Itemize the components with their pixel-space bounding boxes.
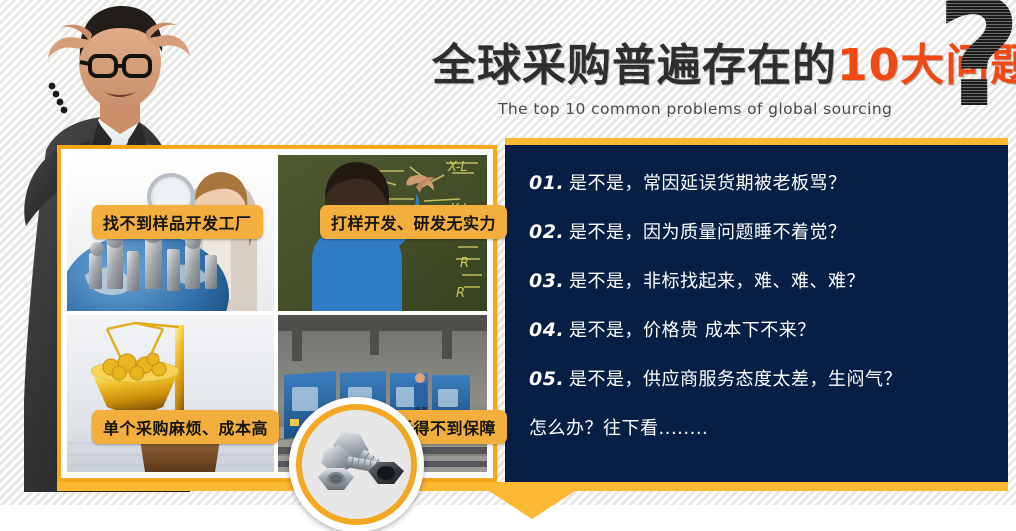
down-arrow-icon [489, 491, 575, 519]
photo-cell-bottom-left [67, 315, 274, 472]
navy-panel-top-bar [505, 138, 1008, 145]
center-circle-ring [296, 404, 417, 525]
problem-number: 03. [529, 270, 569, 292]
caption-top-left: 找不到样品开发工厂 [92, 205, 263, 239]
svg-text:X-L: X-L [447, 160, 468, 175]
bottom-orange-bar [57, 482, 1008, 491]
svg-text:R: R [456, 286, 465, 301]
problem-number: 02. [529, 221, 569, 243]
problems-list: 01. 是不是，常因延误货期被老板骂？ 02. 是不是，因为质量问题睡不着觉？ … [529, 169, 994, 440]
problem-text: 是不是，非标找起来，难、难、难？ [569, 267, 865, 293]
problem-item: 02. 是不是，因为质量问题睡不着觉？ [529, 218, 994, 244]
headline-block: 全球采购普遍存在的10大问题 The top 10 common problem… [432, 44, 992, 136]
question-mark-glyph: ? [936, 0, 1016, 128]
problem-number: 04. [529, 319, 569, 341]
center-circle-badge [289, 397, 424, 531]
question-mark-icon: ? ? [942, 10, 1016, 122]
caption-top-right: 打样开发、研发无实力 [320, 205, 507, 239]
caption-bottom-left: 单个采购麻烦、成本高 [92, 410, 279, 444]
problem-text: 是不是，常因延误货期被老板骂？ [569, 169, 847, 195]
problem-text: 是不是，供应商服务态度太差，生闷气？ [569, 365, 902, 391]
problem-item: 04. 是不是，价格贵 成本下不来？ [529, 316, 994, 342]
problem-text: 是不是，价格贵 成本下不来？ [569, 316, 816, 342]
problem-text: 是不是，因为质量问题睡不着觉？ [569, 218, 847, 244]
problem-item: 03. 是不是，非标找起来，难、难、难？ [529, 267, 994, 293]
problem-number: 01. [529, 172, 569, 194]
svg-text:R: R [460, 256, 469, 271]
problem-item: 05. 是不是，供应商服务态度太差，生闷气？ [529, 365, 994, 391]
problems-footer: 怎么办？往下看........ [529, 414, 994, 440]
page-subtitle: The top 10 common problems of global sou… [498, 100, 892, 118]
promo-banner: 全球采购普遍存在的10大问题 The top 10 common problem… [0, 0, 1016, 531]
problem-number: 05. [529, 368, 569, 390]
page-title: 全球采购普遍存在的10大问题 [432, 44, 992, 88]
page-title-main: 全球采购普遍存在的 [432, 40, 837, 91]
problem-item: 01. 是不是，常因延误货期被老板骂？ [529, 169, 994, 195]
problems-panel: 01. 是不是，常因延误货期被老板骂？ 02. 是不是，因为质量问题睡不着觉？ … [505, 145, 1008, 482]
